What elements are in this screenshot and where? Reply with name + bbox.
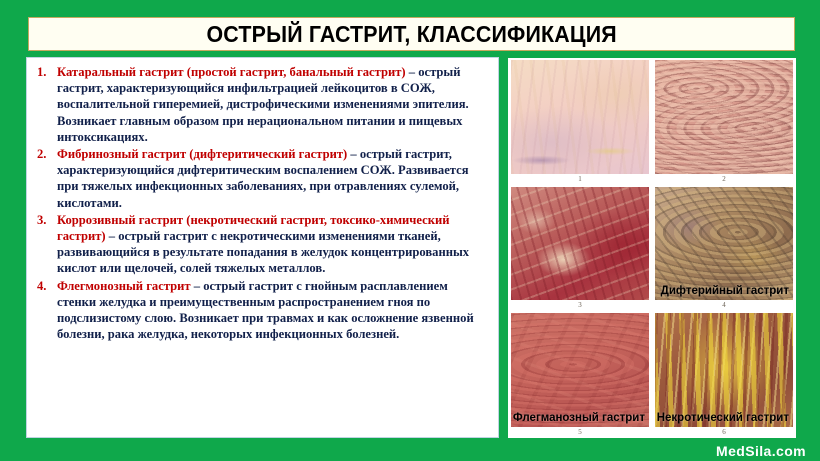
list-item-body: Катаральный гастрит (простой гастрит, ба… [57,64,490,145]
list-item: 3. Коррозивный гастрит (некротический га… [31,212,490,277]
list-item-body: Флегмонозный гастрит – острый гастрит с … [57,278,490,343]
gastritis-photo-grid: 1 2 3 Дифтерийный гастрит 4 Флегманозный… [508,58,796,438]
list-item-number: 3. [31,212,57,228]
list-item-term: Фибринозный гастрит (дифтеритический гас… [57,147,347,161]
photo-cell-1: 1 [508,58,652,185]
list-item: 4. Флегмонозный гастрит – острый гастрит… [31,278,490,343]
photo-cell-6: Некротический гастрит 6 [652,311,796,438]
list-item-number: 4. [31,278,57,294]
slide-title-bar: ОСТРЫЙ ГАСТРИТ, КЛАССИФИКАЦИЯ [28,17,795,51]
list-item-body: Фибринозный гастрит (дифтеритический гас… [57,146,490,211]
mucosa-photo-rugal-folds-icon [655,60,793,174]
list-item-body: Коррозивный гастрит (некротический гастр… [57,212,490,277]
photo-number: 4 [655,300,793,311]
list-item-term: Флегмонозный гастрит [57,279,191,293]
page-title: ОСТРЫЙ ГАСТРИТ, КЛАССИФИКАЦИЯ [206,21,616,48]
photo-caption: Некротический гастрит [657,411,789,425]
photo-cell-4: Дифтерийный гастрит 4 [652,185,796,312]
photo-cell-5: Флегманозный гастрит 5 [508,311,652,438]
photo-number: 5 [511,427,649,438]
photo-number: 6 [655,427,793,438]
classification-list: 1. Катаральный гастрит (простой гастрит,… [31,64,490,342]
mucosa-photo-catarrhal-icon [511,60,649,174]
list-item-description: – острый гастрит с некротическими измене… [57,229,469,275]
list-item-term: Катаральный гастрит (простой гастрит, ба… [57,65,406,79]
list-item-number: 2. [31,146,57,162]
photo-number: 1 [511,174,649,185]
photo-cell-3: 3 [508,185,652,312]
photo-cell-2: 2 [652,58,796,185]
mucosa-photo-diphtheritic-icon: Дифтерийный гастрит [655,187,793,301]
list-item-number: 1. [31,64,57,80]
photo-number: 3 [511,300,649,311]
mucosa-photo-corrosive-icon [511,187,649,301]
mucosa-photo-phlegmonous-icon: Флегманозный гастрит [511,313,649,427]
watermark: MedSila.com [716,443,806,459]
photo-caption: Дифтерийный гастрит [661,284,789,298]
classification-panel: 1. Катаральный гастрит (простой гастрит,… [26,57,499,438]
photo-number: 2 [655,174,793,185]
photo-caption: Флегманозный гастрит [513,411,645,425]
mucosa-photo-necrotic-icon: Некротический гастрит [655,313,793,427]
list-item: 2. Фибринозный гастрит (дифтеритический … [31,146,490,211]
list-item: 1. Катаральный гастрит (простой гастрит,… [31,64,490,145]
